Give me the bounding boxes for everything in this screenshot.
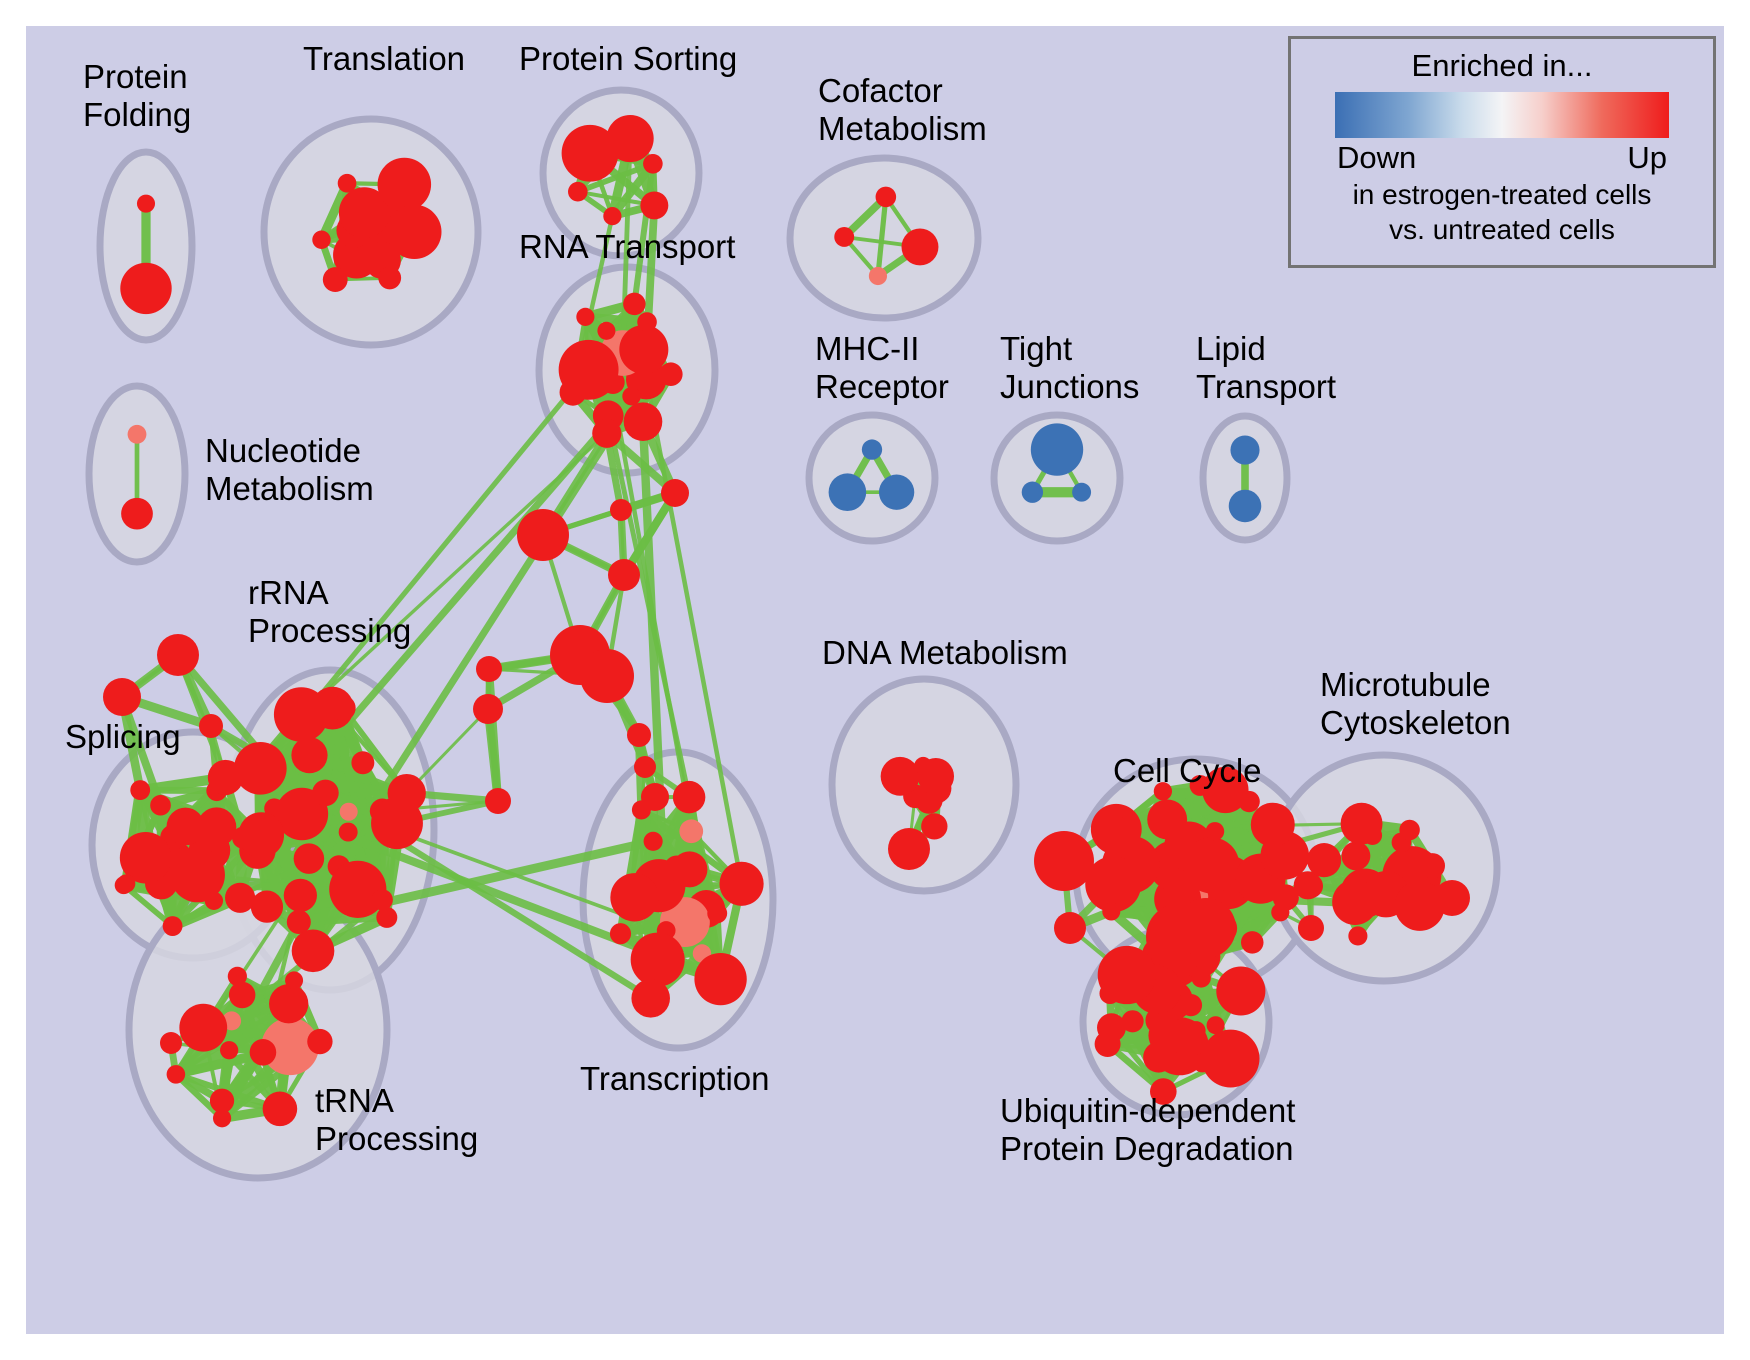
network-node [476, 656, 502, 682]
network-node [1348, 926, 1367, 945]
network-node [294, 843, 325, 874]
network-node [1031, 423, 1083, 475]
network-node [179, 1004, 227, 1052]
network-node [1332, 879, 1378, 925]
network-node [1180, 994, 1202, 1016]
network-node [1216, 966, 1265, 1015]
network-node [284, 879, 317, 912]
network-node [199, 714, 223, 738]
cluster-label-cell-cycle: Cell Cycle [1113, 752, 1262, 790]
network-node [1022, 482, 1043, 503]
network-node [876, 187, 897, 208]
network-node [1399, 820, 1419, 840]
network-node [292, 930, 335, 973]
network-node [834, 227, 854, 247]
network-node [339, 823, 358, 842]
network-node [330, 695, 355, 720]
network-node [707, 903, 727, 923]
network-node [163, 916, 183, 936]
network-node [1143, 1042, 1174, 1073]
network-node [160, 1032, 182, 1054]
cluster-label-cofactor-metabolism: Cofactor Metabolism [818, 72, 987, 148]
network-node [338, 174, 357, 193]
legend-low-label: Down [1337, 140, 1416, 176]
network-node [1341, 803, 1383, 845]
cluster-label-protein-sorting: Protein Sorting [519, 40, 737, 78]
network-node [619, 325, 668, 374]
network-node [1298, 915, 1324, 941]
network-node [1230, 435, 1259, 464]
cluster-label-ubiquitin-protein-degradation: Ubiquitin-dependent Protein Degradation [1000, 1092, 1295, 1168]
network-node [473, 694, 503, 724]
network-node [238, 812, 284, 858]
network-node [1183, 837, 1239, 893]
network-node [562, 125, 619, 182]
network-node [121, 498, 153, 530]
cluster-label-dna-metabolism: DNA Metabolism [822, 634, 1068, 672]
network-node [251, 891, 283, 923]
network-node [1251, 803, 1295, 847]
network-node [1176, 898, 1236, 958]
cluster-label-microtubule-cytoskeleton: Microtubule Cytoskeleton [1320, 666, 1511, 742]
network-node [694, 953, 746, 1005]
network-node [608, 559, 640, 591]
network-node [918, 758, 954, 794]
network-node [610, 499, 632, 521]
network-node [220, 1041, 238, 1059]
network-node [1099, 983, 1120, 1004]
network-node [902, 228, 939, 265]
network-node [323, 267, 348, 292]
network-node [1238, 791, 1259, 812]
network-node [485, 788, 511, 814]
legend-high-label: Up [1627, 140, 1667, 176]
network-node [829, 473, 867, 511]
network-node [285, 971, 303, 989]
cluster-label-rna-transport: RNA Transport [519, 228, 735, 266]
network-node [128, 425, 147, 444]
network-node [351, 751, 374, 774]
network-node [250, 1039, 277, 1066]
figure-canvas: Protein FoldingTranslationProtein Sortin… [0, 0, 1750, 1360]
cluster-label-transcription: Transcription [580, 1060, 770, 1098]
network-node [627, 723, 651, 747]
network-node [640, 191, 668, 219]
network-node [869, 267, 887, 285]
network-node [672, 851, 708, 887]
network-node [644, 832, 663, 851]
network-node [197, 807, 236, 846]
cluster-label-protein-folding: Protein Folding [83, 58, 191, 134]
network-node [312, 231, 330, 249]
network-node [603, 207, 621, 225]
network-node [673, 781, 705, 813]
cluster-label-mhc-ii-receptor: MHC-II Receptor [815, 330, 949, 406]
network-node [661, 479, 689, 507]
network-node [103, 678, 141, 716]
network-node [1241, 931, 1264, 954]
network-node [1102, 902, 1120, 920]
network-node [1229, 490, 1262, 523]
network-node [517, 509, 569, 561]
network-node [274, 687, 329, 742]
network-node [888, 828, 930, 870]
network-node [208, 760, 243, 795]
network-node [560, 379, 587, 406]
network-node [312, 780, 339, 807]
network-node [623, 293, 645, 315]
network-node [1202, 1030, 1260, 1088]
network-node [291, 737, 327, 773]
network-node [634, 756, 656, 778]
network-node [597, 322, 615, 340]
network-node [130, 780, 150, 800]
cluster-label-trna-processing: tRNA Processing [315, 1082, 478, 1158]
network-node [137, 195, 155, 213]
network-node [1420, 853, 1445, 878]
network-node [879, 475, 914, 510]
network-node [387, 205, 441, 259]
network-node [643, 154, 663, 174]
network-node [631, 933, 685, 987]
network-node [150, 795, 171, 816]
cluster-label-rrna-processing: rRNA Processing [248, 574, 411, 650]
network-node [376, 907, 397, 928]
network-node [592, 419, 621, 448]
network-node [1104, 816, 1129, 841]
network-node [388, 774, 426, 812]
legend-title: Enriched in... [1291, 48, 1713, 84]
network-node [1072, 483, 1091, 502]
network-node [641, 783, 669, 811]
network-node [610, 923, 631, 944]
network-node [1095, 1031, 1121, 1057]
network-node [622, 387, 640, 405]
cluster-label-translation: Translation [303, 40, 465, 78]
cluster-label-lipid-transport: Lipid Transport [1196, 330, 1336, 406]
network-node [881, 757, 920, 796]
network-node [659, 362, 683, 386]
network-node [269, 984, 308, 1023]
legend-sub-line-2: vs. untreated cells [1291, 213, 1713, 246]
network-node [225, 883, 255, 913]
network-node [229, 982, 255, 1008]
network-node [862, 439, 882, 459]
network-node [610, 873, 658, 921]
network-node [719, 862, 763, 906]
legend-sub-line-1: in estrogen-treated cells [1291, 178, 1713, 211]
legend-color-bar [1335, 92, 1669, 138]
network-node [115, 876, 133, 894]
legend-box: Enriched in... Down Up in estrogen-treat… [1288, 36, 1716, 268]
network-node [340, 803, 358, 821]
network-node [307, 1029, 332, 1054]
network-node [631, 979, 670, 1018]
network-node [679, 819, 703, 843]
network-node [1206, 822, 1225, 841]
network-node [234, 742, 287, 795]
network-node [637, 312, 657, 332]
network-node [372, 889, 393, 910]
network-node [263, 1092, 298, 1127]
network-node [568, 182, 588, 202]
network-node [1054, 912, 1086, 944]
network-node [213, 1109, 231, 1127]
network-node [205, 892, 223, 910]
network-node [120, 263, 171, 314]
network-node [624, 402, 663, 441]
network-node [1147, 800, 1187, 840]
network-node [580, 649, 634, 703]
cluster-ellipse-mhc_ii_receptor [809, 415, 935, 541]
cluster-label-nucleotide-metabolism: Nucleotide Metabolism [205, 432, 374, 508]
cluster-label-splicing: Splicing [65, 718, 181, 756]
network-node [228, 967, 247, 986]
network-node [1034, 831, 1094, 891]
network-node [1299, 874, 1323, 898]
network-node [157, 634, 199, 676]
network-node [378, 158, 432, 212]
network-node [167, 1065, 186, 1084]
network-node [576, 308, 594, 326]
network-node [1341, 842, 1370, 871]
network-node [378, 267, 401, 290]
cluster-label-tight-junctions: Tight Junctions [1000, 330, 1139, 406]
network-node [1434, 880, 1470, 916]
